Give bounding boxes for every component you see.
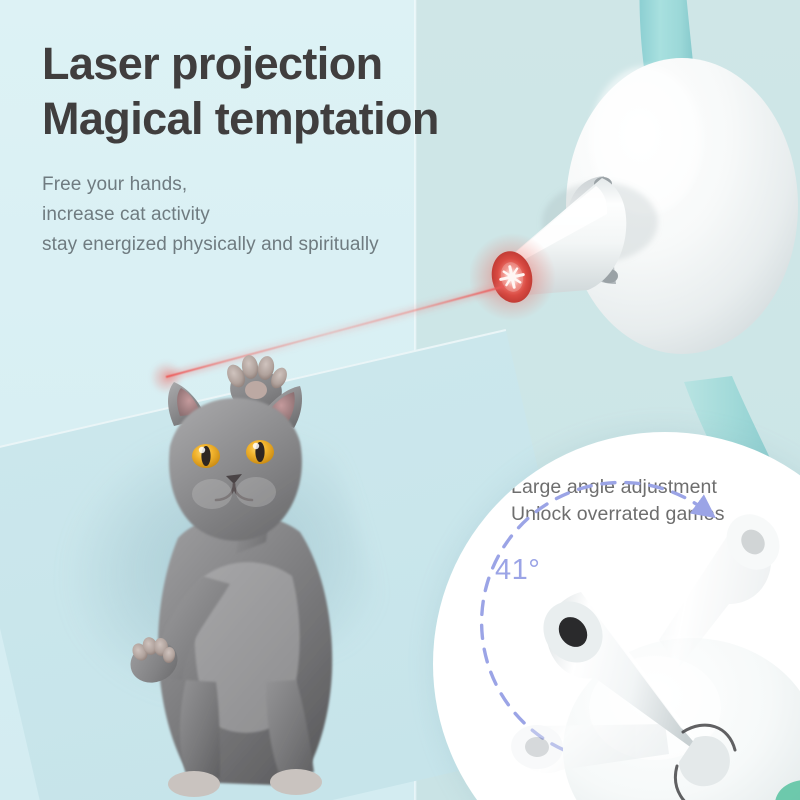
cat-hind-leg-left <box>180 680 220 778</box>
cat-muzzle-right <box>236 477 276 507</box>
product-banner: Laser projection Magical temptation Free… <box>0 0 800 800</box>
cat-photo <box>70 350 400 800</box>
subtitle-line-2: increase cat activity <box>42 200 512 230</box>
inset-device-art <box>433 432 800 800</box>
angle-adjustment-inset: Large angle adjustment Unlock overrated … <box>433 432 800 800</box>
cat-hind-paw-left <box>168 771 220 797</box>
subtitle-line-3: stay energized physically and spirituall… <box>42 230 512 260</box>
cat-eye-left <box>192 444 220 468</box>
laser-device <box>470 0 800 490</box>
cat-hind-paw-right <box>270 769 322 795</box>
subtitle: Free your hands, increase cat activity s… <box>42 170 512 260</box>
cat-eye-right <box>246 440 274 464</box>
cat-head <box>169 398 302 541</box>
subtitle-line-1: Free your hands, <box>42 170 512 200</box>
cat-muzzle-left <box>192 479 232 509</box>
